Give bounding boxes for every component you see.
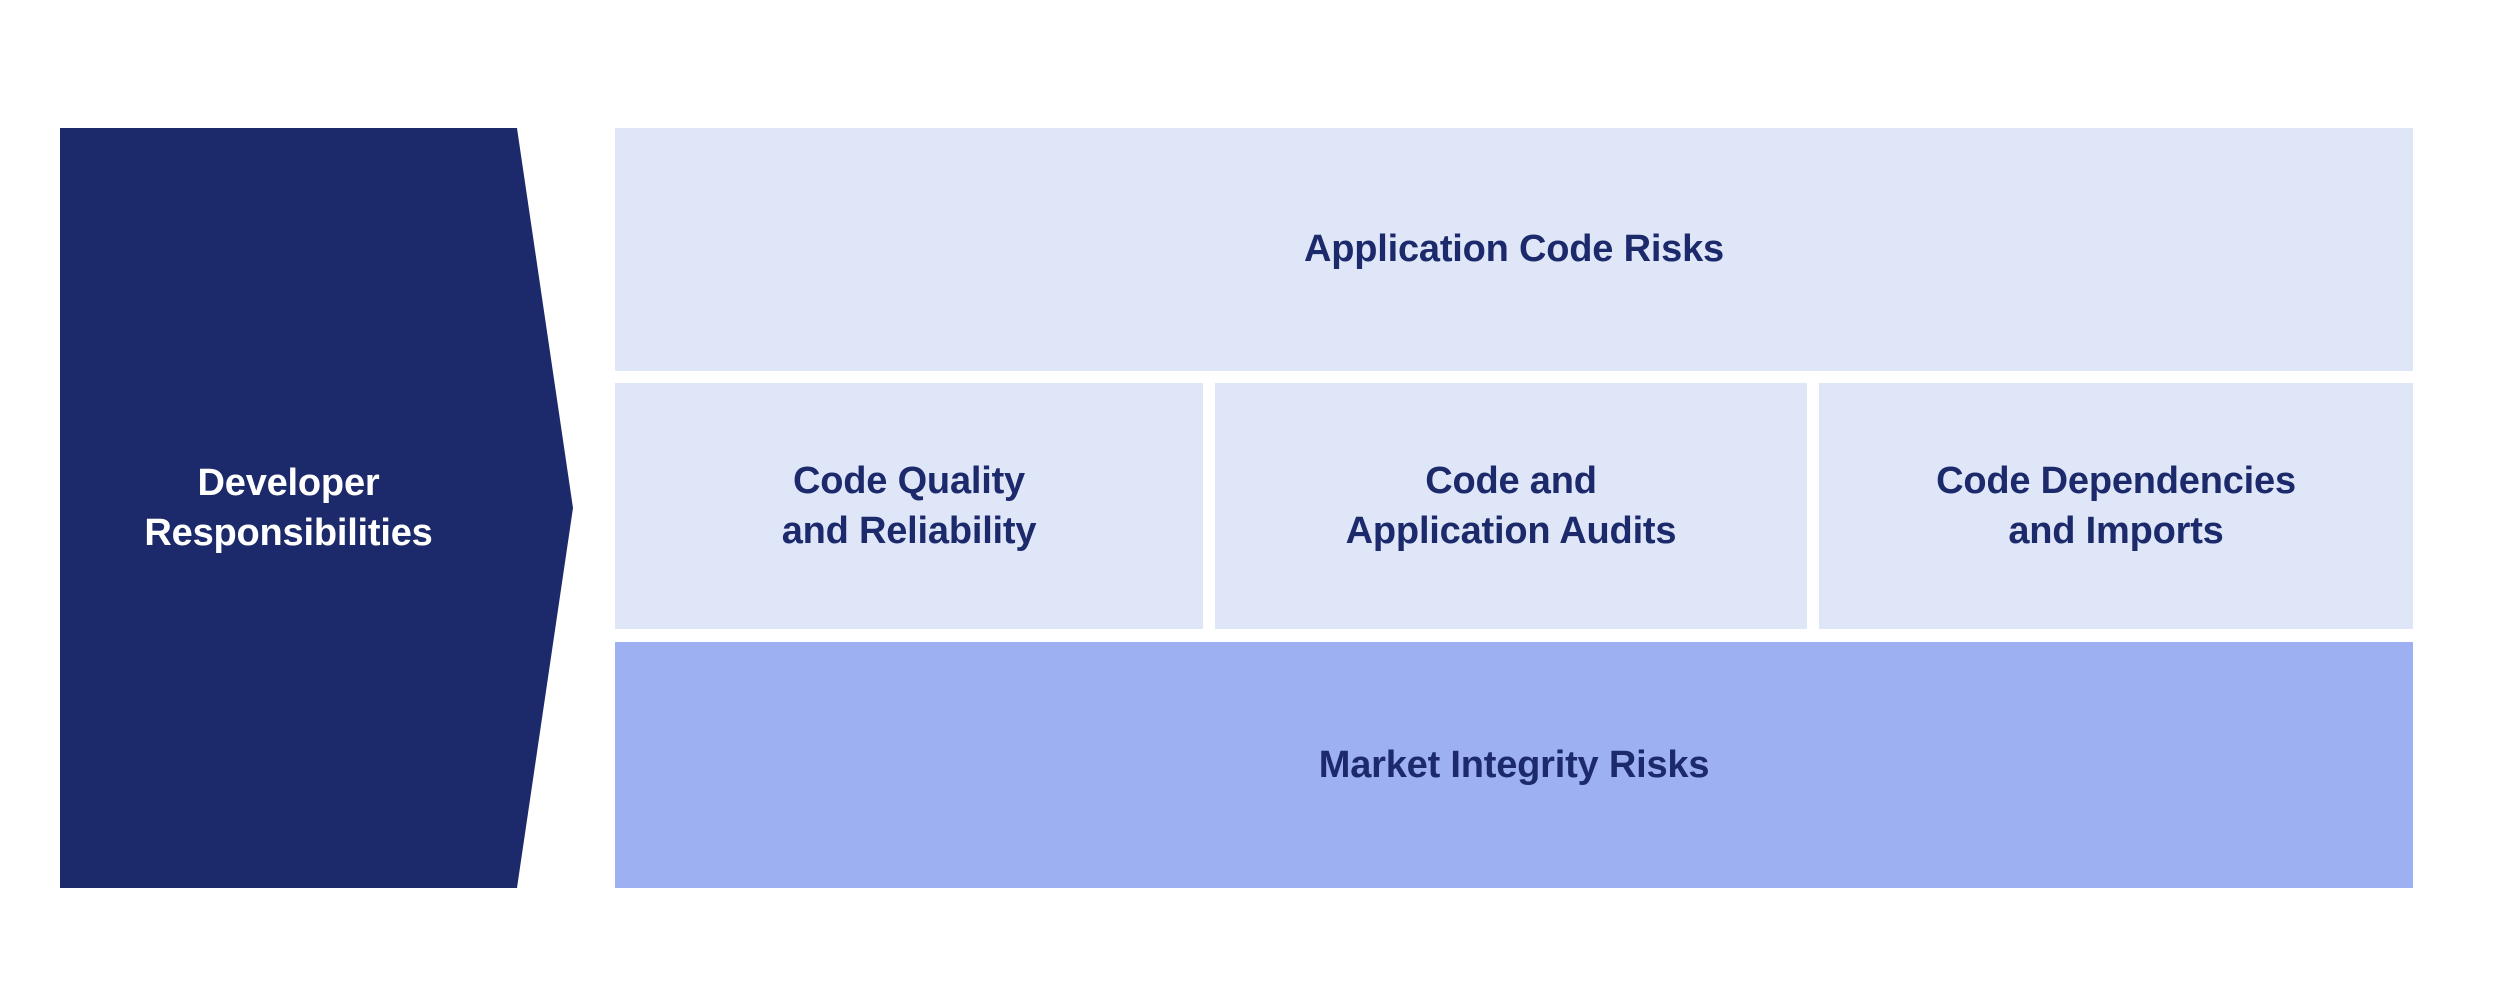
band-application-code-risks: Application Code Risks [615, 128, 2413, 371]
box-0-label: Code Quality and Reliability [782, 456, 1037, 556]
band-top-label: Application Code Risks [1304, 224, 1724, 274]
box-code-dependencies-and-imports: Code Dependencies and Imports [1819, 383, 2413, 629]
middle-boxes-row: Code Quality and Reliability Code and Ap… [615, 383, 2413, 629]
band-bottom-label: Market Integrity Risks [1319, 740, 1710, 790]
box-code-quality-and-reliability: Code Quality and Reliability [615, 383, 1203, 629]
box-1-label: Code and Application Audits [1346, 456, 1677, 556]
band-market-integrity-risks: Market Integrity Risks [615, 642, 2413, 888]
callout-label: Developer Responsibilities [60, 458, 517, 558]
developer-responsibilities-diagram: Developer Responsibilities Application C… [0, 0, 2500, 996]
developer-responsibilities-callout: Developer Responsibilities [60, 128, 573, 888]
box-code-and-application-audits: Code and Application Audits [1215, 383, 1807, 629]
box-2-label: Code Dependencies and Imports [1936, 456, 2296, 556]
